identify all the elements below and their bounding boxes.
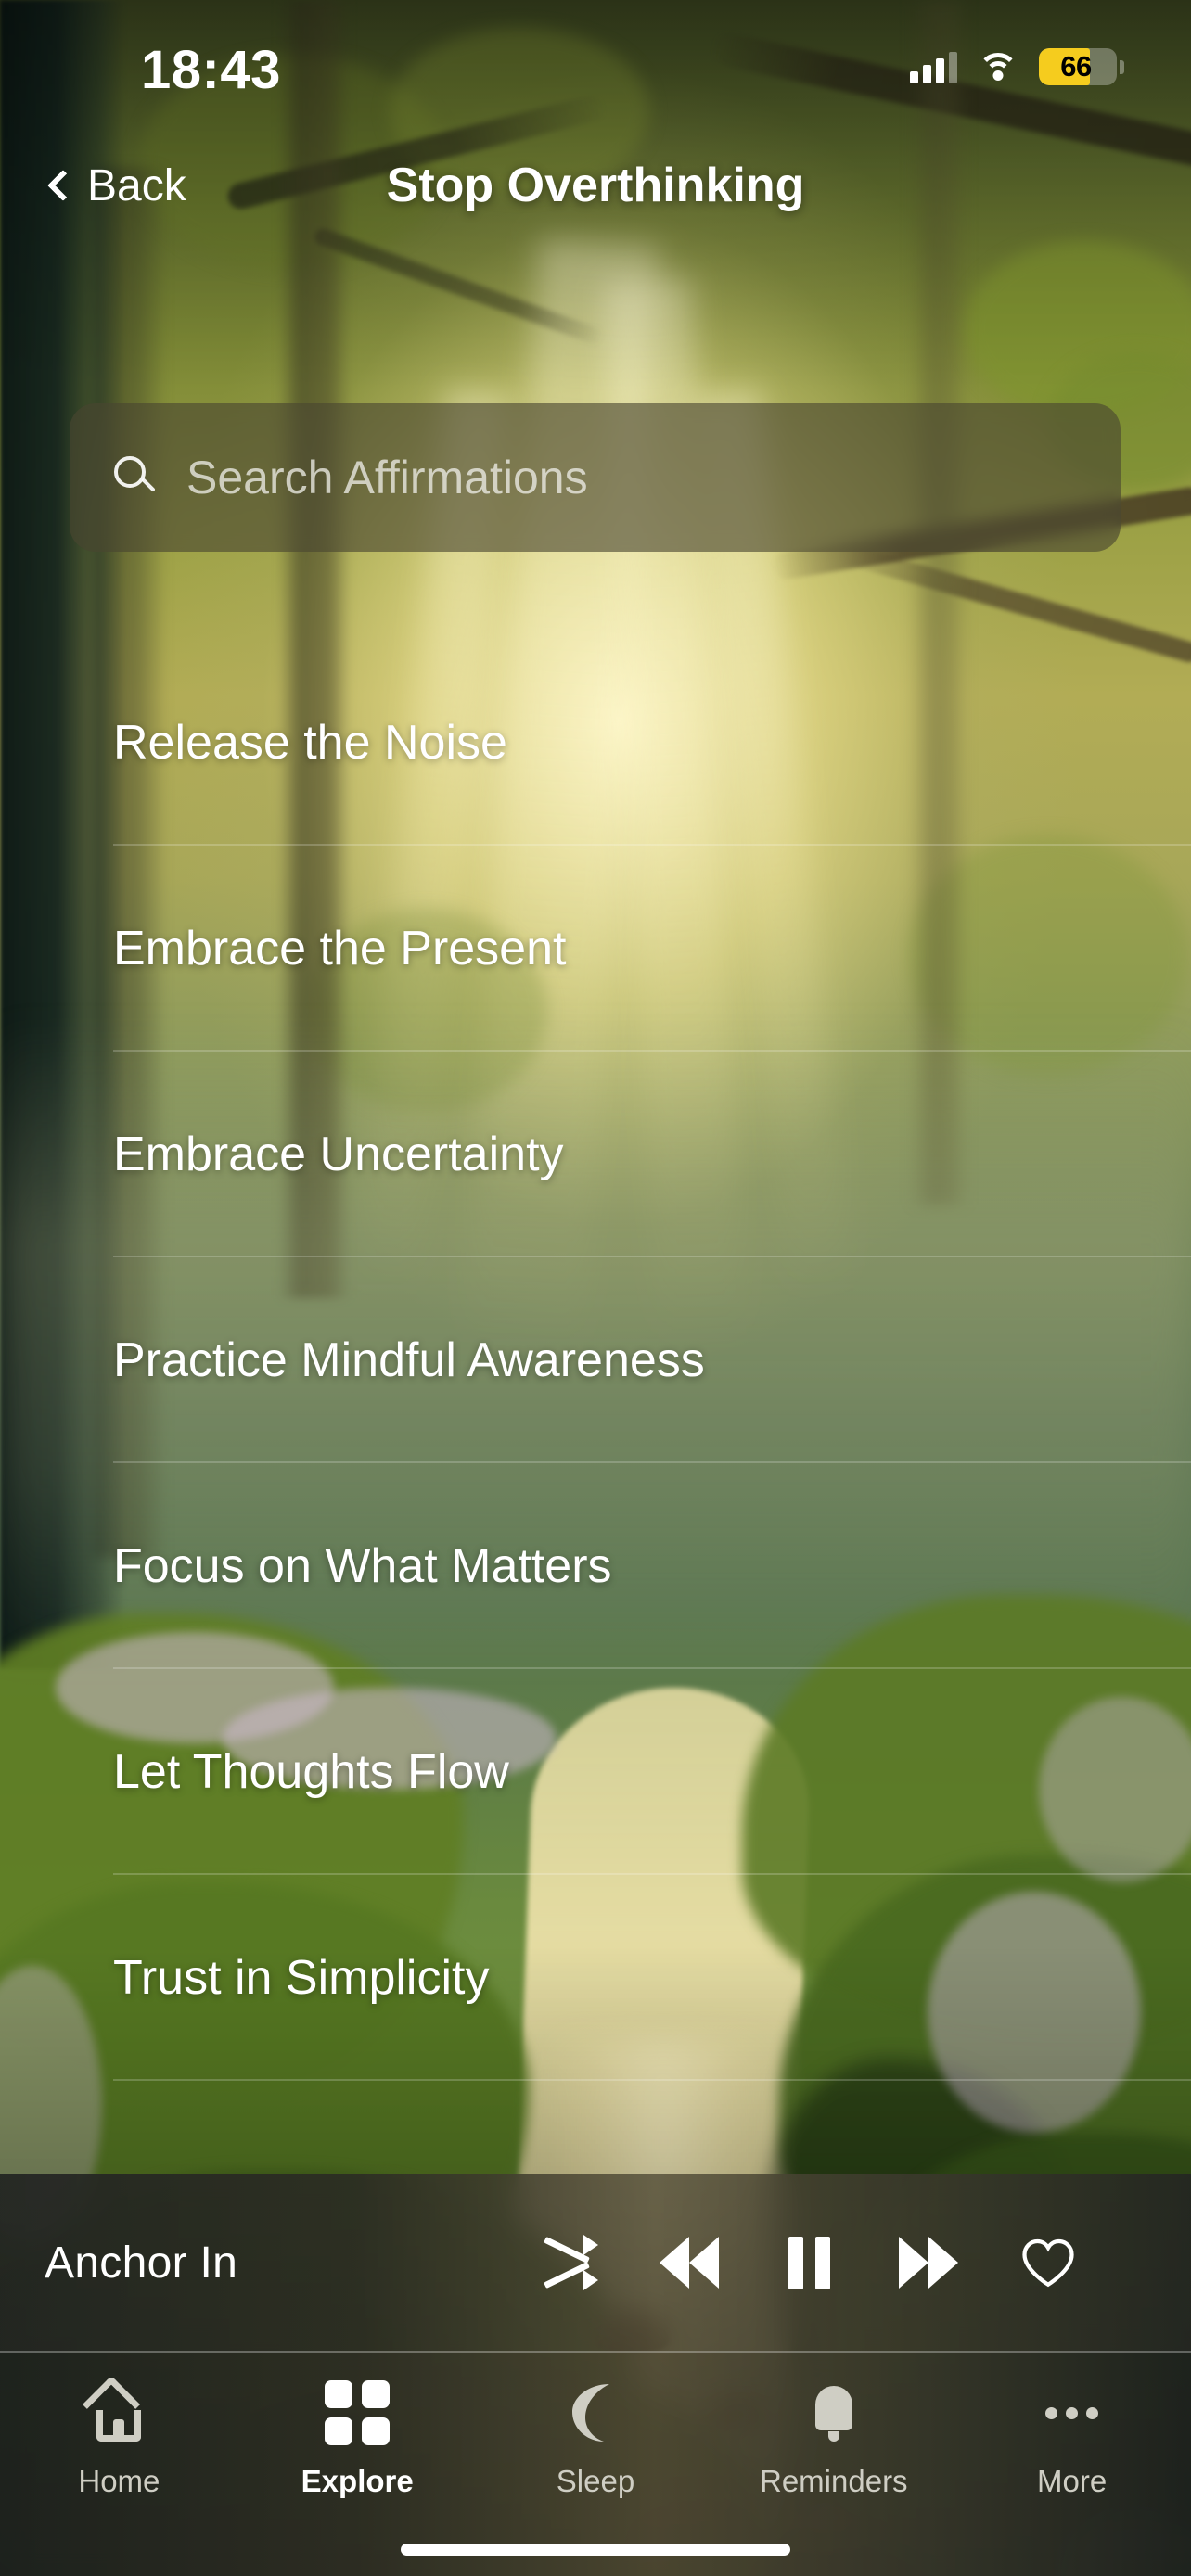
tab-label: More <box>1037 2464 1107 2499</box>
tab-explore[interactable]: Explore <box>238 2353 477 2499</box>
shuffle-button[interactable] <box>525 2218 614 2307</box>
fast-forward-button[interactable] <box>884 2218 973 2307</box>
list-item-label: Trust in Simplicity <box>113 1950 489 2006</box>
list-item[interactable]: Practice Mindful Awareness <box>0 1257 1191 1463</box>
list-item[interactable]: Embrace Uncertainty <box>0 1052 1191 1257</box>
affirmation-list: Release the Noise Embrace the Present Em… <box>0 640 1191 2170</box>
status-indicators: 66 <box>910 48 1124 85</box>
rewind-icon <box>660 2237 719 2289</box>
list-item[interactable]: Focus on What Matters <box>0 1463 1191 1669</box>
grid-icon <box>325 2378 390 2447</box>
wifi-icon <box>978 51 1018 83</box>
tab-label: Home <box>78 2464 160 2499</box>
app-screen: 18:43 66 Back Stop Overthinking <box>0 0 1191 2576</box>
list-item-label: Focus on What Matters <box>113 1538 612 1594</box>
tab-more[interactable]: More <box>953 2353 1191 2499</box>
tab-home[interactable]: Home <box>0 2353 238 2499</box>
list-item-label: Release the Noise <box>113 715 507 771</box>
search-icon <box>114 456 157 499</box>
home-icon <box>88 2378 149 2447</box>
favorite-button[interactable] <box>1004 2218 1093 2307</box>
page-title: Stop Overthinking <box>0 148 1191 223</box>
tab-label: Sleep <box>557 2464 634 2499</box>
cellular-signal-icon <box>910 50 957 83</box>
tab-reminders[interactable]: Reminders <box>714 2353 953 2499</box>
search-input[interactable] <box>186 451 1121 504</box>
status-time: 18:43 <box>141 39 281 101</box>
pause-icon <box>788 2237 830 2289</box>
player-track-title: Anchor In <box>45 2238 237 2289</box>
list-item[interactable]: Trust in Simplicity <box>0 1875 1191 2081</box>
status-bar: 18:43 66 <box>0 0 1191 139</box>
navigation-bar: Back Stop Overthinking <box>0 148 1191 250</box>
rewind-button[interactable] <box>645 2218 734 2307</box>
fast-forward-icon <box>899 2237 958 2289</box>
bell-icon <box>807 2378 861 2447</box>
list-item[interactable]: Let Thoughts Flow <box>0 1669 1191 1875</box>
moon-icon <box>567 2378 624 2447</box>
tab-sleep[interactable]: Sleep <box>477 2353 715 2499</box>
heart-outline-icon <box>1020 2237 1076 2289</box>
mini-player-bar[interactable]: Anchor In <box>0 2174 1191 2351</box>
shuffle-icon <box>543 2238 596 2288</box>
battery-icon: 66 <box>1039 48 1124 85</box>
tab-label: Reminders <box>760 2464 908 2499</box>
list-item-label: Embrace the Present <box>113 921 566 976</box>
home-indicator[interactable] <box>401 2544 790 2556</box>
pause-button[interactable] <box>764 2218 853 2307</box>
list-item-label: Embrace Uncertainty <box>113 1127 564 1182</box>
list-item[interactable]: Release the Noise <box>0 640 1191 846</box>
tab-label: Explore <box>301 2464 414 2499</box>
player-controls <box>525 2174 1137 2351</box>
ellipsis-icon <box>1045 2378 1098 2447</box>
tab-bar: Home Explore Sleep Reminders <box>0 2351 1191 2576</box>
list-item[interactable]: Embrace the Present <box>0 846 1191 1052</box>
list-item-label: Let Thoughts Flow <box>113 1744 509 1800</box>
list-item-label: Practice Mindful Awareness <box>113 1333 705 1388</box>
battery-percent-label: 66 <box>1039 50 1117 83</box>
search-bar[interactable] <box>70 403 1121 552</box>
